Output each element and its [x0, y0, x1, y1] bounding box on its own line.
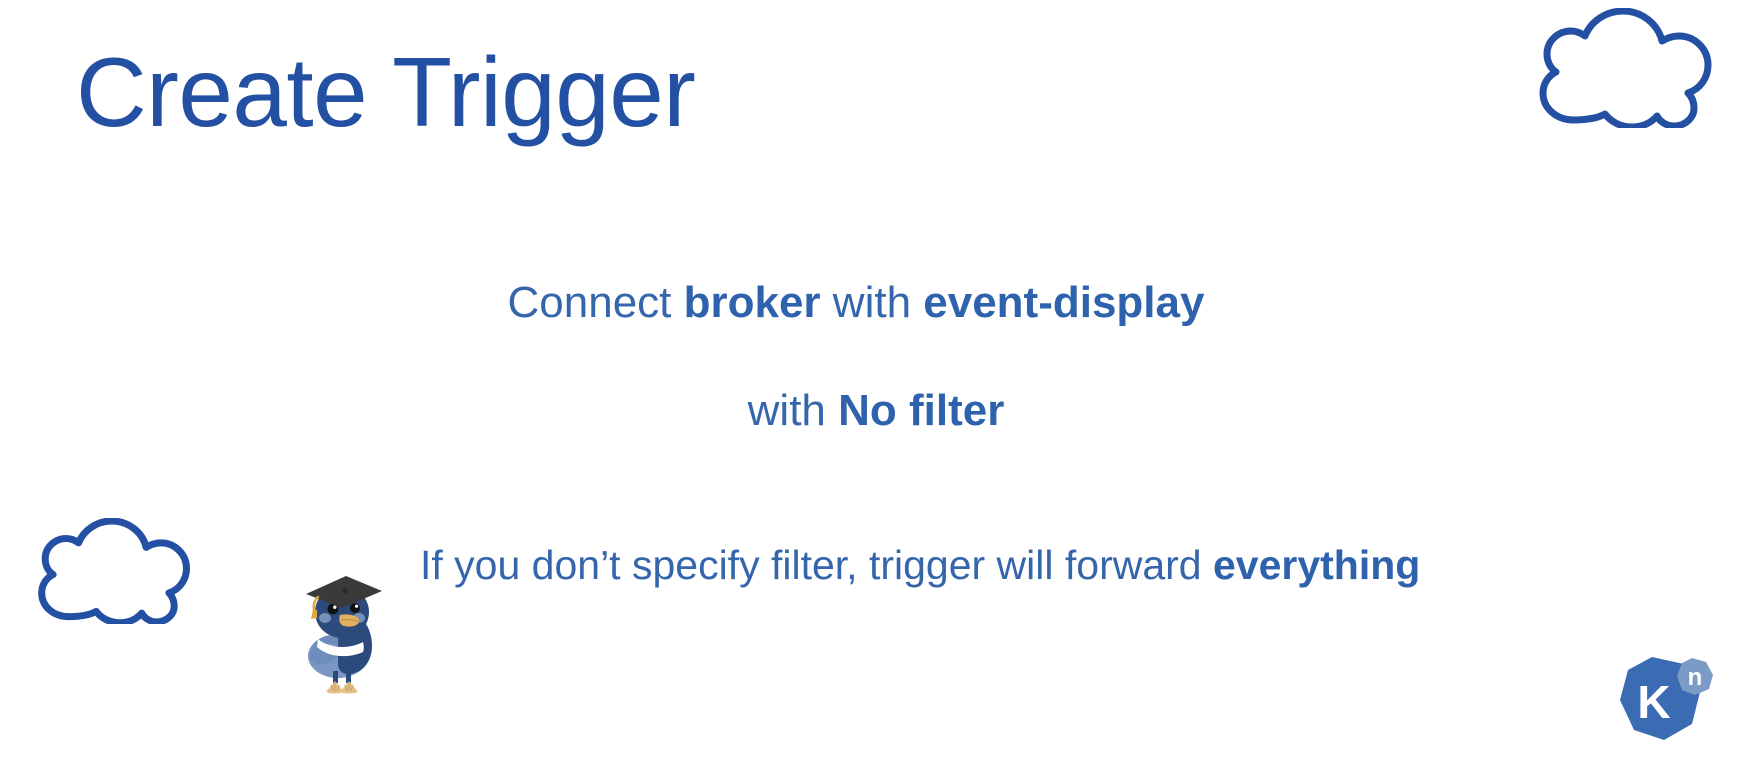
body-line-1-prefix: Connect [508, 278, 684, 327]
body-line-1-bold-broker: broker [684, 278, 821, 327]
cloud-outline-icon [18, 518, 190, 624]
body-line-2-bold-no-filter: No filter [838, 386, 1004, 435]
body-line-3-bold-everything: everything [1213, 542, 1420, 588]
knative-logo: K n [1614, 652, 1714, 756]
cloud-outline-icon [1516, 8, 1712, 128]
page-title: Create Trigger [76, 36, 695, 149]
slide-canvas: Create Trigger Connect broker with event… [0, 0, 1750, 766]
body-line-1-bold-event-display: event-display [923, 278, 1204, 327]
body-line-filter: with No filter [0, 383, 1750, 438]
body-line-connect: Connect broker with event-display [0, 275, 1712, 330]
knative-logo-letter-n: n [1688, 664, 1703, 691]
body-line-1-middle: with [821, 278, 924, 327]
body-line-2-prefix: with [748, 386, 838, 435]
body-line-3-prefix: If you don’t specify filter, trigger wil… [420, 542, 1213, 588]
knative-logo-letter-k: K [1637, 676, 1670, 728]
graduate-bird-mascot-icon [300, 570, 386, 696]
body-line-hint: If you don’t specify filter, trigger wil… [420, 540, 1420, 591]
